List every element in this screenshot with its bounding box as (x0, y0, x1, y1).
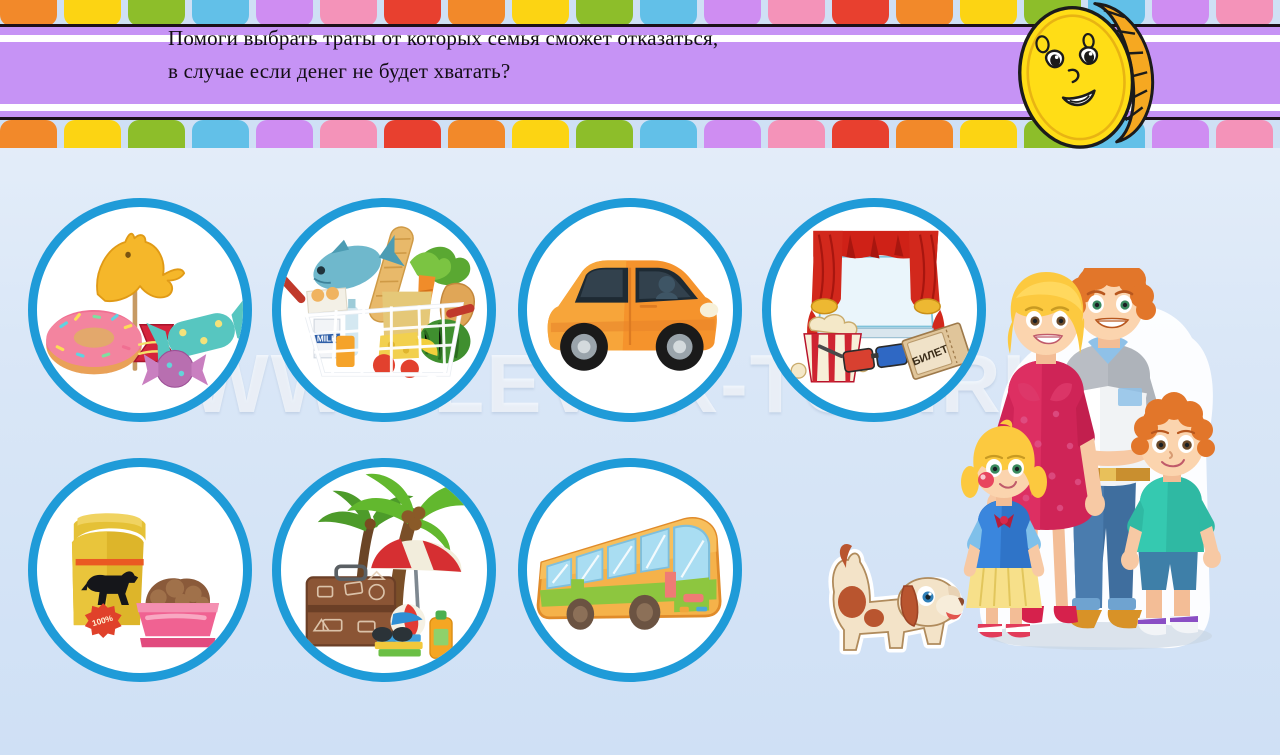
groceries-icon: MILK (281, 207, 487, 413)
tab-swatch (576, 120, 633, 148)
card-groceries[interactable]: MILK (272, 198, 496, 422)
tab-swatch (1152, 0, 1209, 26)
family-illustration (960, 268, 1222, 668)
orange-car-icon (527, 207, 733, 413)
tab-swatch (832, 120, 889, 148)
tab-swatch (64, 0, 121, 26)
tab-swatch (384, 120, 441, 148)
card-pet-food[interactable]: 100% (28, 458, 252, 682)
tab-swatch (0, 120, 57, 148)
card-bus[interactable] (518, 458, 742, 682)
card-vacation[interactable] (272, 458, 496, 682)
sweets-icon (37, 207, 243, 413)
dog-illustration (812, 540, 972, 668)
tab-swatch (640, 120, 697, 148)
card-car[interactable] (518, 198, 742, 422)
page-title: Помоги выбрать траты от которых семья см… (168, 22, 968, 88)
card-cinema[interactable]: БИЛЕТ (762, 198, 986, 422)
tab-swatch (256, 120, 313, 148)
worksheet-page: WWW.CLEVER-TOY.RU (0, 0, 1280, 755)
tab-swatch (768, 120, 825, 148)
tab-swatch (192, 120, 249, 148)
tab-swatch (128, 120, 185, 148)
header: Помоги выбрать траты от которых семья см… (0, 0, 1280, 146)
tab-swatch (64, 120, 121, 148)
bus-icon (527, 467, 733, 673)
tab-swatch (512, 120, 569, 148)
cinema-icon: БИЛЕТ (771, 207, 977, 413)
tab-swatch (1216, 0, 1273, 26)
tab-swatch (0, 0, 57, 26)
card-sweets[interactable] (28, 198, 252, 422)
tab-swatch (1216, 120, 1273, 148)
page-title-line: в случае если денег не будет хватать? (168, 55, 968, 88)
tab-swatch (960, 120, 1017, 148)
vacation-icon (281, 467, 487, 673)
tab-swatch (704, 120, 761, 148)
pet-food-icon: 100% (37, 467, 243, 673)
page-title-line: Помоги выбрать траты от которых семья см… (168, 22, 968, 55)
tab-swatch (896, 120, 953, 148)
tab-swatch (448, 120, 505, 148)
coin-mascot-icon (999, 0, 1170, 161)
tab-swatch (320, 120, 377, 148)
